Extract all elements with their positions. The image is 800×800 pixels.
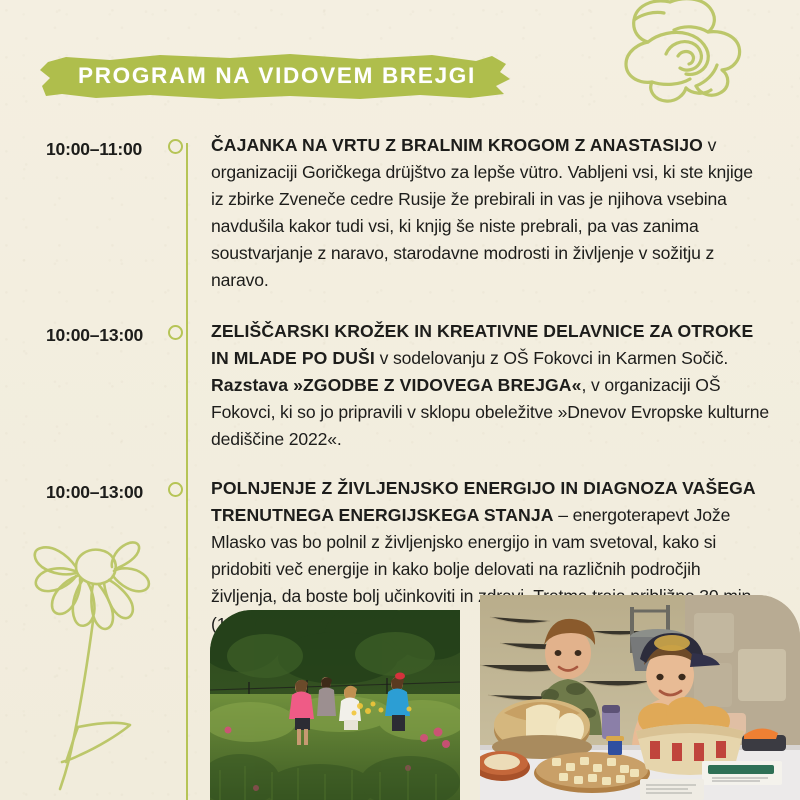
photo-market <box>480 595 800 800</box>
program-banner: PROGRAM NA VIDOVEM BREJGI <box>40 52 512 100</box>
photo-gap <box>460 610 480 800</box>
entry-text-bold: Razstava »ZGODBE Z VIDOVEGA BREJGA« <box>211 375 581 395</box>
photo-garden <box>210 610 460 800</box>
entry-text-bold: ČAJANKA NA VRTU Z BRALNIM KROGOM Z ANAST… <box>211 135 703 155</box>
entry-description: ZELIŠČARSKI KROŽEK IN KREATIVNE DELAVNIC… <box>211 318 800 453</box>
photo-market-image <box>480 595 800 800</box>
banner-title: PROGRAM NA VIDOVEM BREJGI <box>78 52 476 100</box>
timeline-marker <box>160 318 211 453</box>
cheese-wheel <box>492 699 592 759</box>
cheese-board <box>534 752 650 793</box>
timeline-dot-icon <box>168 482 183 497</box>
program-entry-list: 10:00–11:00ČAJANKA NA VRTU Z BRALNIM KRO… <box>0 132 800 638</box>
rose-line-art-icon <box>578 0 778 115</box>
entry-text: v organizaciji Goričkega drüjštvo za lep… <box>211 135 753 290</box>
entry-time: 10:00–13:00 <box>0 318 160 453</box>
timeline-dot-icon <box>168 139 183 154</box>
entry-description: ČAJANKA NA VRTU Z BRALNIM KROGOM Z ANAST… <box>211 132 800 295</box>
timeline-dot-icon <box>168 325 183 340</box>
entry-text: v sodelovanju z OŠ Fokovci in Karmen Soč… <box>375 348 728 368</box>
entry-time: 10:00–11:00 <box>0 132 160 295</box>
timeline-marker <box>160 132 211 295</box>
photo-garden-image <box>210 610 460 800</box>
timeline-marker <box>160 475 211 638</box>
entry-time: 10:00–13:00 <box>0 475 160 638</box>
photo-strip <box>210 610 800 800</box>
program-entry: 10:00–11:00ČAJANKA NA VRTU Z BRALNIM KRO… <box>0 132 800 295</box>
program-entry: 10:00–13:00ZELIŠČARSKI KROŽEK IN KREATIV… <box>0 318 800 453</box>
